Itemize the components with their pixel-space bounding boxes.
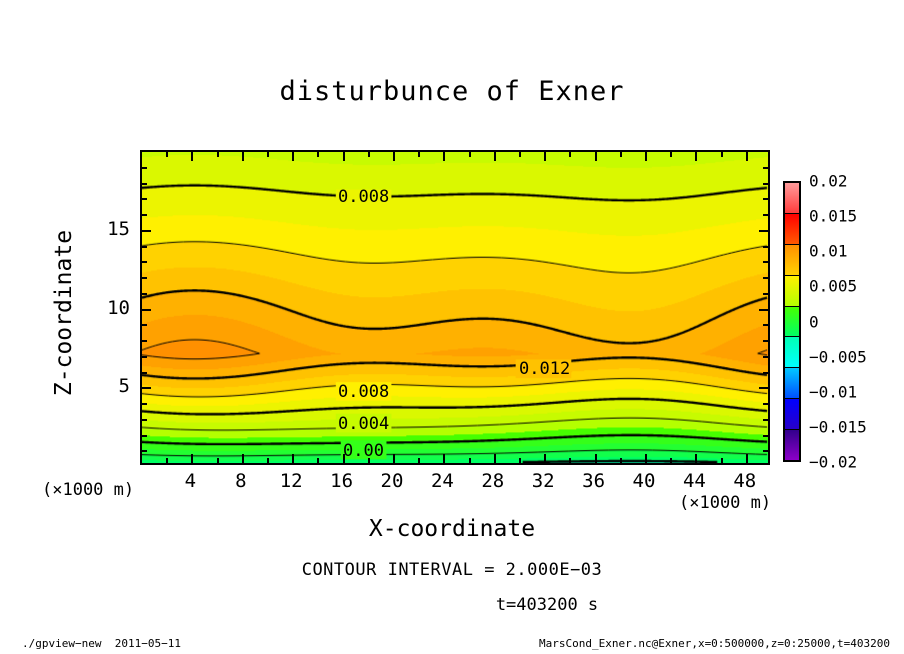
colorbar-band: [785, 368, 799, 399]
footer-source-label: MarsCond_Exner.nc@Exner,x=0:500000,z=0:2…: [539, 637, 890, 650]
y-tick-right: [763, 246, 768, 248]
colorbar-tick-label: −0.02: [809, 453, 857, 472]
y-tick: [142, 230, 151, 232]
contour-plot-area[interactable]: [140, 150, 770, 465]
y-tick-right: [759, 309, 768, 311]
x-tick-top: [418, 152, 420, 157]
x-tick: [494, 454, 496, 463]
y-tick-right: [763, 293, 768, 295]
colorbar-tick-label: 0.02: [809, 172, 848, 191]
x-tick: [469, 458, 471, 463]
x-tick-top: [645, 152, 647, 161]
colorbar-tick-label: 0.015: [809, 207, 857, 226]
x-unit-right-label: (×1000 m): [679, 493, 771, 513]
y-tick-right: [763, 214, 768, 216]
colorbar-band: [785, 399, 799, 430]
y-tick-label: 10: [86, 297, 130, 319]
x-axis-title: X-coordinate: [0, 516, 904, 542]
x-tick-top: [595, 152, 597, 161]
x-tick-top: [469, 152, 471, 157]
colorbar-band: [785, 183, 799, 214]
y-tick: [142, 261, 147, 263]
x-tick: [317, 458, 319, 463]
contour-interval-annotation: CONTOUR INTERVAL = 2.000E−03: [0, 560, 904, 580]
x-tick-top: [746, 152, 748, 161]
contour-line-label: 0.012: [519, 359, 570, 379]
y-tick-right: [763, 419, 768, 421]
y-tick-right: [759, 387, 768, 389]
x-tick: [191, 454, 193, 463]
x-tick: [519, 458, 521, 463]
colorbar-band: [785, 307, 799, 338]
y-tick-right: [759, 230, 768, 232]
x-tick: [393, 454, 395, 463]
footer-command-label: ./gpview−new 2011−05−11: [22, 637, 181, 650]
y-tick-right: [763, 340, 768, 342]
x-tick: [418, 458, 420, 463]
x-tick: [746, 454, 748, 463]
y-tick: [142, 356, 147, 358]
x-tick-top: [569, 152, 571, 157]
y-tick: [142, 419, 147, 421]
y-tick-right: [763, 198, 768, 200]
y-tick: [142, 214, 147, 216]
y-tick: [142, 387, 151, 389]
x-tick-top: [443, 152, 445, 161]
colorbar-tick-label: −0.005: [809, 347, 867, 366]
y-tick-right: [763, 356, 768, 358]
x-tick-top: [670, 152, 672, 157]
colorbar-tick-label: 0.01: [809, 242, 848, 261]
contour-line-label: 0.00: [343, 441, 384, 461]
y-tick-label: 5: [86, 375, 130, 397]
y-tick-right: [763, 403, 768, 405]
colorbar-tick-label: 0: [809, 312, 819, 331]
colorbar-tick-label: −0.01: [809, 382, 857, 401]
x-tick-top: [393, 152, 395, 161]
page-title: disturbunce of Exner: [0, 76, 904, 107]
x-tick: [166, 458, 168, 463]
y-tick-label: 15: [86, 218, 130, 240]
y-tick: [142, 198, 147, 200]
y-tick: [142, 403, 147, 405]
y-tick-right: [763, 372, 768, 374]
x-tick: [544, 454, 546, 463]
x-tick-top: [695, 152, 697, 161]
y-axis-title: Z-coordinate: [51, 203, 77, 423]
x-tick: [721, 458, 723, 463]
y-tick: [142, 450, 147, 452]
y-tick: [142, 340, 147, 342]
x-tick: [670, 458, 672, 463]
y-tick: [142, 435, 147, 437]
y-tick: [142, 324, 147, 326]
x-tick-top: [292, 152, 294, 161]
x-tick: [292, 454, 294, 463]
y-tick-right: [763, 435, 768, 437]
x-unit-left-label: (×1000 m): [42, 480, 134, 500]
x-tick-top: [317, 152, 319, 157]
x-tick: [695, 454, 697, 463]
contour-line-label: 0.008: [338, 382, 389, 402]
y-tick-right: [763, 261, 768, 263]
x-tick: [443, 454, 445, 463]
x-tick: [217, 458, 219, 463]
y-tick: [142, 246, 147, 248]
y-tick-right: [763, 450, 768, 452]
x-tick-top: [343, 152, 345, 161]
y-tick: [142, 372, 147, 374]
x-tick-top: [267, 152, 269, 157]
x-tick: [569, 458, 571, 463]
x-tick-top: [721, 152, 723, 157]
x-tick: [595, 454, 597, 463]
x-tick: [242, 454, 244, 463]
colorbar-band: [785, 430, 799, 460]
x-tick-top: [544, 152, 546, 161]
y-tick-right: [763, 277, 768, 279]
y-tick-right: [763, 324, 768, 326]
colorbar-band: [785, 337, 799, 368]
x-tick-top: [217, 152, 219, 157]
y-tick: [142, 277, 147, 279]
colorbar-tick-label: −0.015: [809, 417, 867, 436]
x-tick-top: [494, 152, 496, 161]
y-tick-right: [763, 167, 768, 169]
x-tick: [645, 454, 647, 463]
x-tick-top: [519, 152, 521, 157]
x-tick-top: [242, 152, 244, 161]
x-tick-top: [620, 152, 622, 157]
contour-field-canvas: [142, 152, 768, 463]
y-tick-right: [763, 183, 768, 185]
y-tick: [142, 183, 147, 185]
colorbar-band: [785, 276, 799, 307]
x-tick-top: [166, 152, 168, 157]
y-tick: [142, 293, 147, 295]
x-tick-top: [191, 152, 193, 161]
colorbar-band: [785, 214, 799, 245]
x-tick-label: 48: [715, 470, 775, 492]
y-tick: [142, 309, 151, 311]
y-tick: [142, 167, 147, 169]
colorbar-tick-label: 0.005: [809, 277, 857, 296]
x-tick: [620, 458, 622, 463]
x-tick-top: [368, 152, 370, 157]
contour-line-label: 0.004: [338, 414, 389, 434]
x-tick: [267, 458, 269, 463]
time-annotation: t=403200 s: [0, 595, 904, 615]
colorbar-band: [785, 245, 799, 276]
contour-line-label: 0.008: [338, 187, 389, 207]
colorbar[interactable]: [783, 181, 801, 462]
